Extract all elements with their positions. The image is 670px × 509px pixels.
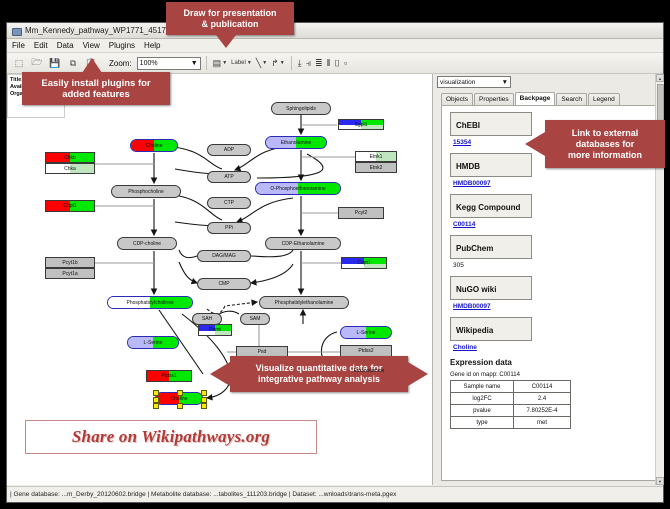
node-label: L-Serine — [357, 330, 376, 336]
node-label: O-Phosphoethanolamine — [270, 186, 325, 192]
copy-icon[interactable]: ⧉ — [65, 55, 81, 71]
node-label: Ethanolamine — [281, 140, 312, 146]
row-value: 2.4 — [514, 393, 571, 405]
expression-data-heading: Expression data — [450, 358, 651, 367]
align-top-tool[interactable]: ⤓ — [297, 55, 303, 71]
selection-handle[interactable] — [153, 390, 159, 396]
scroll-down-icon[interactable]: ▼ — [656, 477, 664, 485]
node-label: CDP-choline — [133, 241, 161, 247]
node-label: Pcyt2 — [355, 210, 368, 216]
node-label: CMP — [218, 281, 229, 287]
visualization-value: visualization — [440, 79, 475, 86]
metabolite-node-cdp-choline[interactable]: CDP-choline — [117, 237, 177, 250]
metabolite-node-atp[interactable]: ATP — [207, 171, 251, 183]
metabolite-node-l-serine[interactable]: L-Serine — [127, 336, 179, 349]
node-label: Ptdss2 — [358, 348, 373, 354]
node-label: Pemt — [209, 327, 221, 333]
nugo-wiki-link[interactable]: HMDB00097 — [453, 303, 651, 310]
callout-visualize-arrow-left — [210, 362, 230, 386]
gene-node-sgpl1[interactable]: Sgpl1 — [338, 119, 384, 130]
gene-node-pcyt1a[interactable]: Pcyt1a — [45, 268, 95, 279]
metabolite-node-o-phosphoethanolamine[interactable]: O-Phosphoethanolamine — [255, 182, 341, 195]
gene-node-chpt1[interactable]: Chpt1 — [45, 200, 95, 212]
callout-visualize-text: Visualize quantitative data forintegrati… — [250, 360, 389, 388]
gene-node-cept1[interactable]: Cept1 — [341, 257, 387, 269]
callout-plugins: Easily install plugins foradded features — [22, 72, 170, 105]
gene-node-pemt[interactable]: Pemt — [198, 324, 232, 336]
table-row: type met — [451, 417, 571, 429]
menu-item-view[interactable]: View — [83, 41, 100, 50]
scroll-up-icon[interactable]: ▲ — [656, 74, 664, 82]
metabolite-node-sphingolipids[interactable]: Sphingolipids — [271, 102, 331, 115]
selection-handle[interactable] — [177, 403, 183, 409]
node-label: Psd — [258, 349, 267, 355]
node-label: L-Serine — [144, 340, 163, 346]
selection-handle[interactable] — [201, 397, 207, 403]
section-header-pubchem: PubChem — [450, 235, 532, 259]
row-key: Sample name — [451, 381, 514, 393]
callout-share: Share on Wikipathways.org — [25, 420, 317, 454]
node-label: DAG/MAG — [212, 253, 236, 259]
node-label: ADP — [224, 147, 234, 153]
distribute-horizontal-tool[interactable]: ⦀ — [326, 55, 332, 71]
node-label: Choline — [146, 143, 163, 149]
row-value: 7.80252E-4 — [514, 405, 571, 417]
kegg-compound-link[interactable]: C00114 — [453, 221, 651, 228]
menubar: File Edit Data View Plugins Help — [7, 39, 663, 53]
zoom-value: 100% — [140, 60, 158, 67]
metabolite-node-ctp[interactable]: CTP — [207, 197, 251, 209]
chevron-down-icon: ▼ — [280, 60, 285, 66]
statusbar: | Gene database: ...m_Derby_20120602.bri… — [7, 486, 663, 502]
visualization-combobox[interactable]: visualization ▼ — [437, 76, 511, 88]
callout-links-text: Link to externaldatabases formore inform… — [562, 125, 648, 164]
node-label: Cept1 — [357, 260, 370, 266]
row-value: met — [514, 417, 571, 429]
datanode-tool[interactable]: ▤▼ — [212, 55, 228, 71]
metabolite-node-cmp[interactable]: CMP — [197, 278, 251, 290]
table-row: log2FC 2.4 — [451, 393, 571, 405]
metabolite-node-choline[interactable]: Choline — [130, 139, 178, 152]
row-key: type — [451, 417, 514, 429]
scrollbar-thumb[interactable] — [657, 84, 664, 122]
wikipedia-link[interactable]: Choline — [453, 344, 651, 351]
callout-draw: Draw for presentation& publication — [166, 2, 294, 35]
metabolite-node-phosphocholine[interactable]: Phosphocholine — [111, 185, 181, 198]
menu-item-plugins[interactable]: Plugins — [109, 41, 135, 50]
section-header-wikipedia: Wikipedia — [450, 317, 532, 341]
save-icon[interactable]: 💾 — [47, 55, 63, 71]
callout-draw-text: Draw for presentation& publication — [177, 5, 282, 33]
callout-plugins-arrow — [82, 58, 102, 73]
gene-node-pcyt1b[interactable]: Pcyt1b — [45, 257, 95, 268]
row-key: log2FC — [451, 393, 514, 405]
node-label: CDP-Ethanolamine — [282, 241, 325, 247]
gene-node-etnk1[interactable]: Etnk1 — [355, 151, 397, 162]
node-label: Phosphatidylcholines — [127, 300, 174, 306]
metabolite-node-dag-mag[interactable]: DAG/MAG — [197, 250, 251, 262]
callout-visualize: Visualize quantitative data forintegrati… — [230, 356, 408, 392]
table-row: pvalue 7.80252E-4 — [451, 405, 571, 417]
toolbar: ⬚ 🗁 💾 ⧉ 📋 Zoom: 100% ▼ ▤▼ Label▼ ╲▼ ↱▼ ⤓… — [7, 53, 663, 74]
gene-node-chkb[interactable]: Chkb — [45, 152, 95, 163]
callout-visualize-arrow-right — [408, 362, 428, 386]
node-label: Sphingolipids — [286, 106, 316, 112]
chevron-down-icon: ▼ — [262, 60, 267, 66]
callout-links: Link to externaldatabases formore inform… — [545, 120, 665, 168]
node-label: PPi — [225, 225, 233, 231]
statusbar-text: | Gene database: ...m_Derby_20120602.bri… — [10, 491, 396, 498]
node-label: Chpt1 — [63, 203, 76, 209]
selection-handle[interactable] — [153, 403, 159, 409]
hmdb-link[interactable]: HMDB00097 — [453, 180, 651, 187]
label-tool[interactable]: Label▼ — [230, 55, 253, 71]
callout-plugins-text: Easily install plugins foradded features — [35, 75, 156, 103]
callout-draw-arrow — [216, 35, 236, 48]
common-width-tool[interactable]: ⌷ — [334, 55, 341, 71]
node-label: Phosphocholine — [128, 189, 164, 195]
node-label: Ptdss1 — [161, 373, 176, 379]
expression-data-table: Sample name C00114 log2FC 2.4 pvalue 7.8… — [450, 380, 571, 429]
line-tool[interactable]: ╲▼ — [255, 55, 268, 71]
row-key: pvalue — [451, 405, 514, 417]
menu-item-edit[interactable]: Edit — [34, 41, 48, 50]
selection-handle[interactable] — [201, 390, 207, 396]
section-header-nugo: NuGO wiki — [450, 276, 532, 300]
node-label: Sgpl1 — [355, 122, 368, 128]
node-label: Pcyt1a — [62, 271, 77, 277]
pubchem-value: 305 — [453, 262, 651, 269]
node-label: Chka — [64, 166, 76, 172]
gene-node-pcyt2[interactable]: Pcyt2 — [338, 207, 384, 219]
chevron-down-icon: ▼ — [247, 60, 252, 66]
node-label: Choline — [171, 396, 188, 402]
node-label: Pcyt1b — [62, 260, 77, 266]
section-header-chebi: ChEBI — [450, 112, 532, 136]
screenshot-root: Mm_Kennedy_pathway_WP1771_45176.gpml Fil… — [0, 0, 670, 509]
node-label: CTP — [224, 200, 234, 206]
chevron-down-icon: ▼ — [222, 60, 227, 66]
row-value: C00114 — [514, 381, 571, 393]
toolbar-separator — [291, 56, 292, 70]
chevron-down-icon: ▼ — [502, 79, 508, 86]
metabolite-node-ppi[interactable]: PPi — [207, 222, 251, 234]
metabolite-node-cdp-ethanolamine[interactable]: CDP-Ethanolamine — [265, 237, 341, 250]
metabolite-node-phosphatidylcholines[interactable]: Phosphatidylcholines — [107, 296, 193, 309]
metabolite-node-phosphatidylethanolamine[interactable]: Phosphatidylethanolamine — [259, 296, 349, 309]
node-label: Etnk2 — [370, 165, 383, 171]
gene-node-ptdss1[interactable]: Ptdss1 — [146, 370, 192, 382]
node-label: Chkb — [64, 155, 76, 161]
gene-node-etnk2[interactable]: Etnk2 — [355, 162, 397, 173]
gene-id-on-mapp: Gene id on mapp: C00114 — [450, 372, 651, 378]
node-label: Etnk1 — [370, 154, 383, 160]
selection-handle[interactable] — [153, 397, 159, 403]
window-titlebar: Mm_Kennedy_pathway_WP1771_45176.gpml — [7, 23, 663, 39]
align-left-tool[interactable]: ⫣ — [305, 55, 312, 71]
tab-backpage[interactable]: Backpage — [515, 92, 556, 106]
zoom-label: Zoom: — [109, 59, 132, 68]
chevron-down-icon: ▼ — [191, 60, 198, 67]
selection-handle[interactable] — [201, 403, 207, 409]
node-label: Ethanolamine — [354, 368, 385, 374]
pathvisio-icon — [11, 26, 21, 36]
menu-item-help[interactable]: Help — [144, 41, 160, 50]
zoom-combobox[interactable]: 100% ▼ — [137, 57, 201, 70]
callout-links-arrow — [525, 132, 545, 156]
callout-share-text: Share on Wikipathways.org — [72, 427, 270, 447]
node-label: SAH — [202, 316, 212, 322]
metabolite-node-sam[interactable]: SAM — [240, 313, 270, 325]
new-file-icon[interactable]: ⬚ — [11, 55, 27, 71]
metabolite-node-l-serine[interactable]: L-Serine — [340, 326, 392, 339]
gene-node-chka[interactable]: Chka — [45, 163, 95, 174]
section-header-kegg: Kegg Compound — [450, 194, 532, 218]
metabolite-node-adp[interactable]: ADP — [207, 144, 251, 156]
metabolite-node-ethanolamine[interactable]: Ethanolamine — [265, 136, 327, 149]
node-label: Phosphatidylethanolamine — [275, 300, 334, 306]
distribute-vertical-tool[interactable]: ≣ — [314, 55, 324, 71]
common-height-tool[interactable]: ▫ — [343, 55, 348, 71]
open-folder-icon[interactable]: 🗁 — [29, 55, 45, 71]
toolbar-separator — [206, 56, 207, 70]
table-row: Sample name C00114 — [451, 381, 571, 393]
node-label: SAM — [250, 316, 261, 322]
section-header-hmdb: HMDB — [450, 153, 532, 177]
interaction-tool[interactable]: ↱▼ — [270, 55, 286, 71]
menu-item-file[interactable]: File — [12, 41, 25, 50]
node-label: ATP — [224, 174, 233, 180]
menu-item-data[interactable]: Data — [57, 41, 74, 50]
